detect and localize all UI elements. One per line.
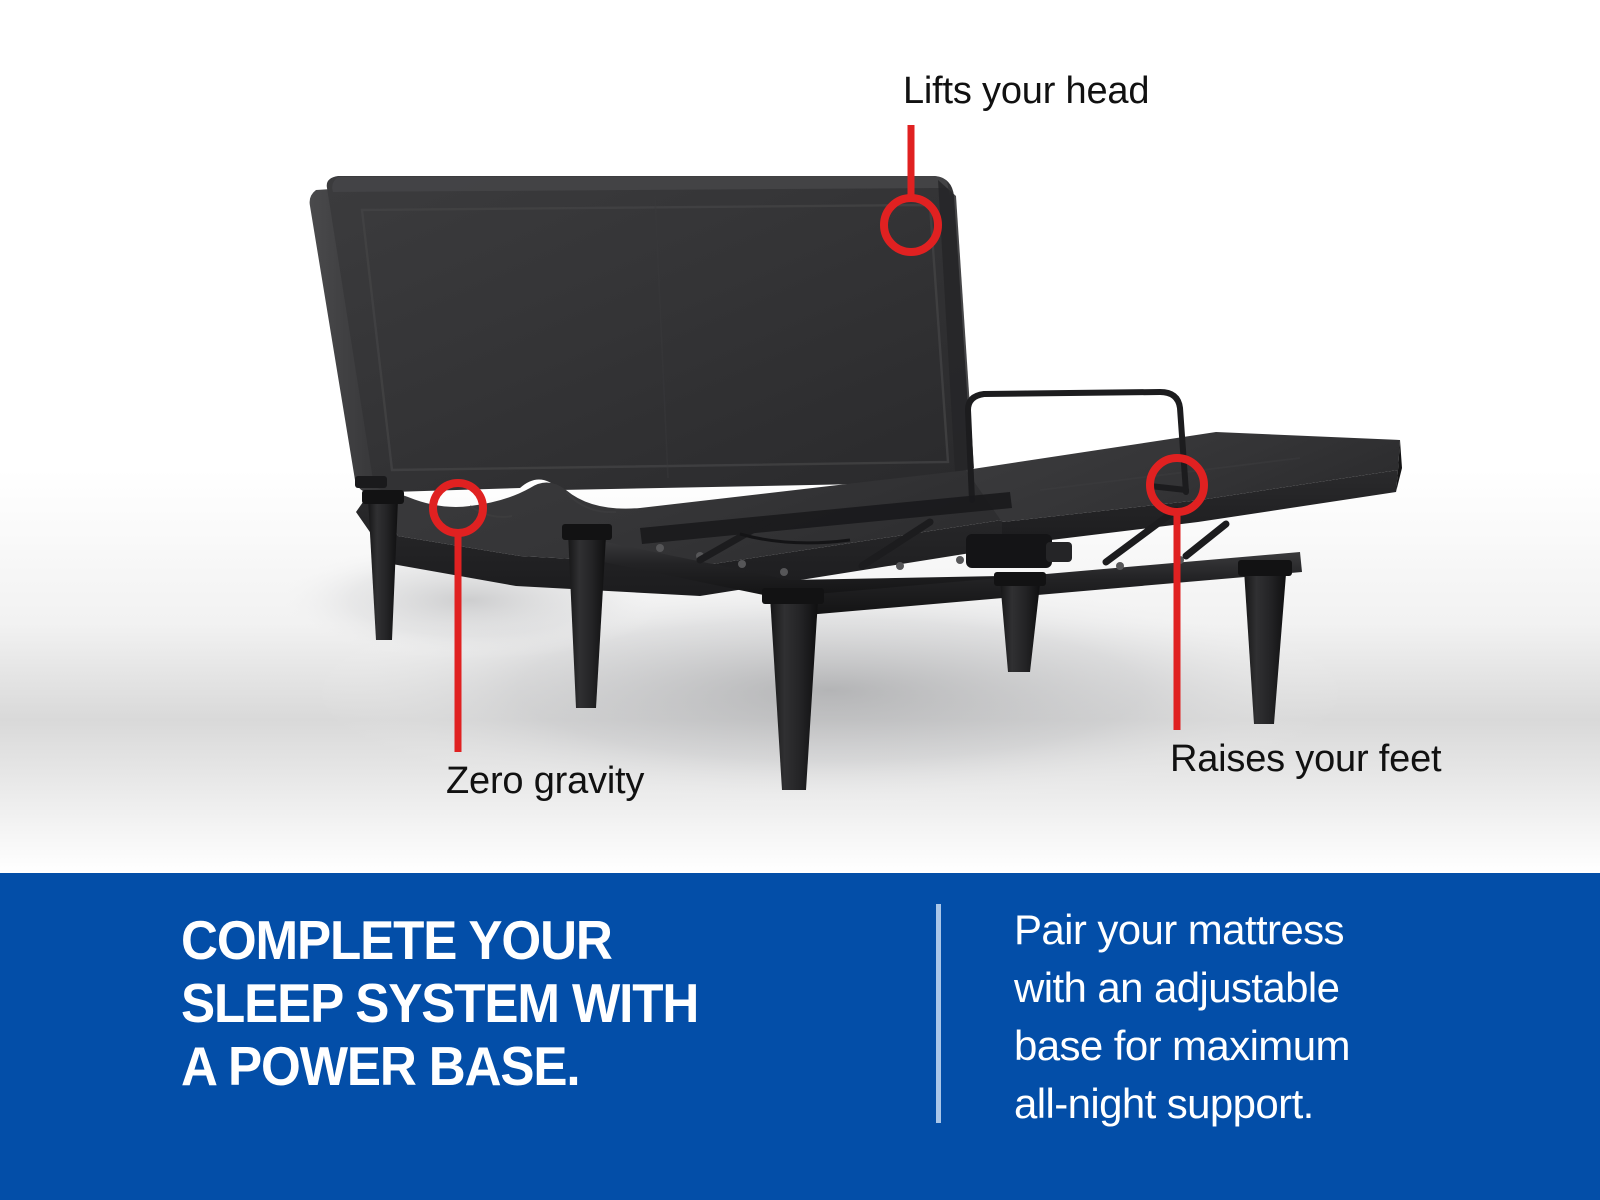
- leg-bracket-2: [562, 524, 612, 540]
- banner-subcopy: Pair your mattress with an adjustable ba…: [1014, 901, 1434, 1133]
- leg-bracket-1: [362, 490, 404, 504]
- head-panel-hinge-tab: [355, 476, 387, 488]
- marketing-image: Lifts your head Zero gravity Raises your…: [0, 0, 1600, 1200]
- subcopy-line-3: base for maximum: [1014, 1017, 1434, 1075]
- product-photo: Lifts your head Zero gravity Raises your…: [0, 0, 1600, 873]
- headline-line-1: COMPLETE YOUR: [181, 909, 832, 972]
- head-panel-face: [327, 176, 972, 492]
- subcopy-line-2: with an adjustable: [1014, 959, 1434, 1017]
- subcopy-line-1: Pair your mattress: [1014, 901, 1434, 959]
- banner-headline: COMPLETE YOUR SLEEP SYSTEM WITH A POWER …: [181, 909, 832, 1098]
- head-panel: [310, 176, 974, 494]
- headline-line-2: SLEEP SYSTEM WITH: [181, 972, 832, 1035]
- banner-vertical-divider: [936, 904, 941, 1123]
- headline-line-3: A POWER BASE.: [181, 1035, 832, 1098]
- leg-bracket-3: [762, 588, 824, 604]
- subcopy-line-4: all-night support.: [1014, 1075, 1434, 1133]
- callout-label-lifts-head: Lifts your head: [903, 72, 1149, 110]
- leg-bracket-4: [994, 572, 1046, 586]
- motor-housing: [966, 534, 1052, 568]
- leg-bracket-5: [1238, 560, 1292, 576]
- callout-label-raises-feet: Raises your feet: [1170, 740, 1441, 778]
- callout-label-zero-gravity: Zero gravity: [446, 762, 644, 800]
- promo-banner: COMPLETE YOUR SLEEP SYSTEM WITH A POWER …: [0, 873, 1600, 1200]
- retainer-bar-foot: [1150, 486, 1186, 490]
- motor-cap: [1046, 542, 1072, 562]
